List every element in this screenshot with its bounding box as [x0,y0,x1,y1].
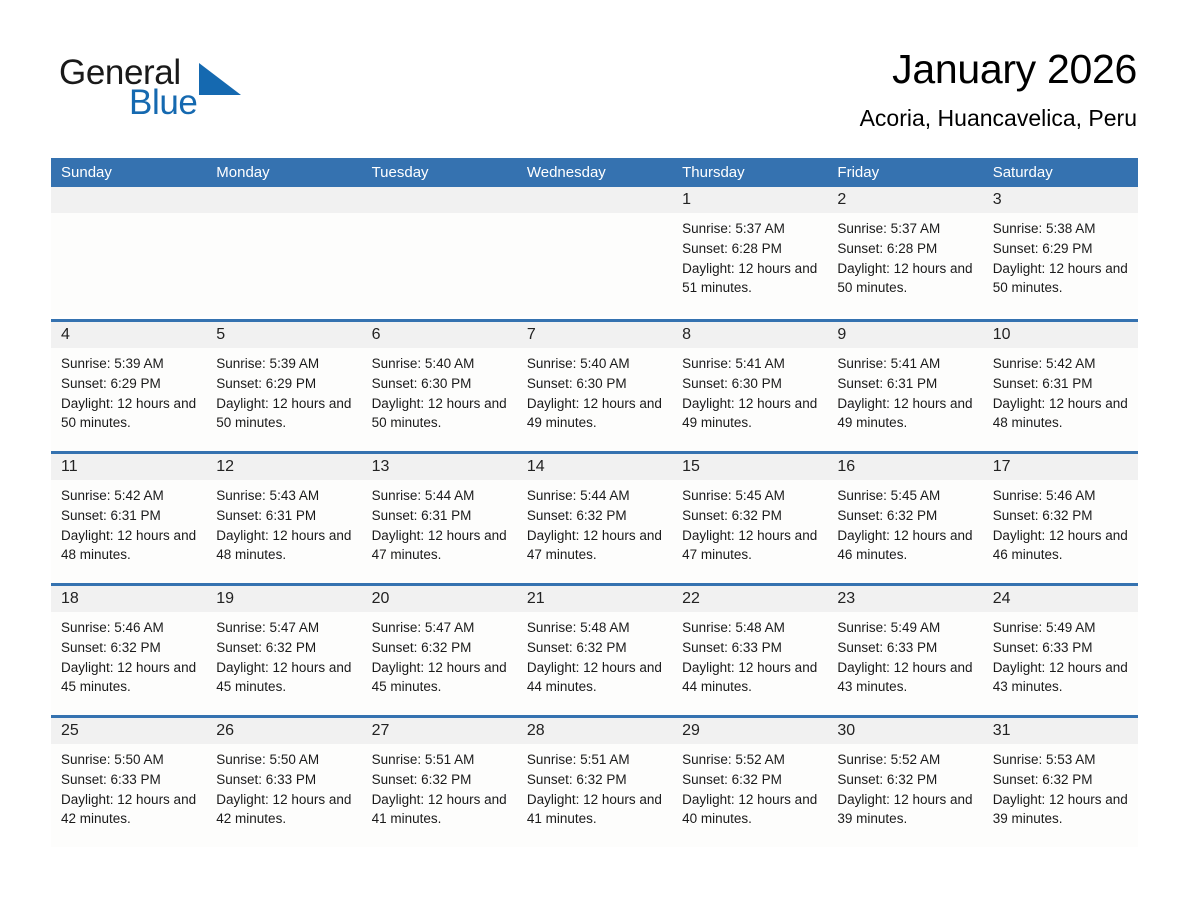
sunrise-text: Sunrise: 5:40 AM [372,354,511,374]
daylight-text: Daylight: 12 hours and 43 minutes. [993,658,1132,698]
week-daynumber-band: 1 2 3 [51,187,1138,213]
daylight-text: Daylight: 12 hours and 41 minutes. [527,790,666,830]
daylight-text: Daylight: 12 hours and 49 minutes. [837,394,976,434]
day-number[interactable] [51,187,206,213]
day-cell[interactable]: Sunrise: 5:47 AM Sunset: 6:32 PM Dayligh… [362,612,517,715]
day-cell[interactable]: Sunrise: 5:45 AM Sunset: 6:32 PM Dayligh… [672,480,827,583]
weekday-header-monday: Monday [206,158,361,187]
sunrise-text: Sunrise: 5:48 AM [527,618,666,638]
daylight-text: Daylight: 12 hours and 48 minutes. [61,526,200,566]
day-cell[interactable] [362,213,517,316]
day-number[interactable]: 25 [51,718,206,744]
page-title: January 2026 [860,44,1137,94]
day-cell[interactable]: Sunrise: 5:48 AM Sunset: 6:33 PM Dayligh… [672,612,827,715]
sunrise-text: Sunrise: 5:39 AM [61,354,200,374]
sunrise-text: Sunrise: 5:50 AM [216,750,355,770]
day-cell[interactable]: Sunrise: 5:53 AM Sunset: 6:32 PM Dayligh… [983,744,1138,847]
logo-text-blue: Blue [129,82,197,124]
day-cell[interactable]: Sunrise: 5:49 AM Sunset: 6:33 PM Dayligh… [983,612,1138,715]
sunset-text: Sunset: 6:28 PM [837,239,976,259]
sunset-text: Sunset: 6:31 PM [216,506,355,526]
day-cell[interactable]: Sunrise: 5:39 AM Sunset: 6:29 PM Dayligh… [51,348,206,451]
day-number[interactable]: 30 [827,718,982,744]
sunset-text: Sunset: 6:31 PM [993,374,1132,394]
sunset-text: Sunset: 6:33 PM [993,638,1132,658]
day-cell[interactable]: Sunrise: 5:44 AM Sunset: 6:32 PM Dayligh… [517,480,672,583]
sunset-text: Sunset: 6:32 PM [527,770,666,790]
daylight-text: Daylight: 12 hours and 45 minutes. [216,658,355,698]
location-subtitle: Acoria, Huancavelica, Peru [860,102,1137,134]
daylight-text: Daylight: 12 hours and 41 minutes. [372,790,511,830]
sunrise-text: Sunrise: 5:48 AM [682,618,821,638]
day-cell[interactable]: Sunrise: 5:42 AM Sunset: 6:31 PM Dayligh… [983,348,1138,451]
daylight-text: Daylight: 12 hours and 50 minutes. [372,394,511,434]
day-number[interactable]: 16 [827,454,982,480]
sunset-text: Sunset: 6:29 PM [61,374,200,394]
sunrise-text: Sunrise: 5:45 AM [682,486,821,506]
week-dayinfo-band: Sunrise: 5:42 AM Sunset: 6:31 PM Dayligh… [51,480,1138,583]
day-cell[interactable] [517,213,672,316]
sunrise-text: Sunrise: 5:38 AM [993,219,1132,239]
sunrise-text: Sunrise: 5:44 AM [527,486,666,506]
week-daynumber-band: 25 26 27 28 29 30 31 [51,718,1138,744]
day-cell[interactable]: Sunrise: 5:47 AM Sunset: 6:32 PM Dayligh… [206,612,361,715]
sunset-text: Sunset: 6:32 PM [216,638,355,658]
sunset-text: Sunset: 6:33 PM [682,638,821,658]
daylight-text: Daylight: 12 hours and 45 minutes. [61,658,200,698]
day-number[interactable]: 11 [51,454,206,480]
sunset-text: Sunset: 6:32 PM [527,638,666,658]
daylight-text: Daylight: 12 hours and 50 minutes. [993,259,1132,299]
week-row: 1 2 3 [51,187,1138,319]
weekday-header-friday: Friday [827,158,982,187]
sunset-text: Sunset: 6:33 PM [837,638,976,658]
sunrise-text: Sunrise: 5:40 AM [527,354,666,374]
day-number[interactable]: 9 [827,322,982,348]
sunrise-text: Sunrise: 5:41 AM [682,354,821,374]
sunrise-text: Sunrise: 5:37 AM [682,219,821,239]
sunset-text: Sunset: 6:32 PM [682,506,821,526]
day-cell[interactable]: Sunrise: 5:52 AM Sunset: 6:32 PM Dayligh… [827,744,982,847]
sunrise-text: Sunrise: 5:42 AM [61,486,200,506]
day-number[interactable] [517,187,672,213]
day-cell[interactable]: Sunrise: 5:46 AM Sunset: 6:32 PM Dayligh… [51,612,206,715]
day-number[interactable]: 28 [517,718,672,744]
day-number[interactable]: 17 [983,454,1138,480]
sunset-text: Sunset: 6:30 PM [527,374,666,394]
daylight-text: Daylight: 12 hours and 50 minutes. [216,394,355,434]
day-number[interactable]: 6 [362,322,517,348]
week-daynumber-band: 11 12 13 14 15 16 17 [51,454,1138,480]
week-row: 11 12 13 14 15 16 17 Sunrise: 5:42 AM Su… [51,451,1138,583]
week-dayinfo-band: Sunrise: 5:37 AM Sunset: 6:28 PM Dayligh… [51,213,1138,316]
week-daynumber-band: 18 19 20 21 22 23 24 [51,586,1138,612]
sunset-text: Sunset: 6:32 PM [372,638,511,658]
daylight-text: Daylight: 12 hours and 48 minutes. [216,526,355,566]
logo-triangle-icon [199,63,241,95]
day-number[interactable]: 23 [827,586,982,612]
day-cell[interactable]: Sunrise: 5:38 AM Sunset: 6:29 PM Dayligh… [983,213,1138,316]
daylight-text: Daylight: 12 hours and 42 minutes. [61,790,200,830]
sunset-text: Sunset: 6:30 PM [682,374,821,394]
daylight-text: Daylight: 12 hours and 50 minutes. [837,259,976,299]
sunrise-text: Sunrise: 5:37 AM [837,219,976,239]
day-number[interactable]: 21 [517,586,672,612]
sunset-text: Sunset: 6:32 PM [61,638,200,658]
day-number[interactable]: 13 [362,454,517,480]
daylight-text: Daylight: 12 hours and 49 minutes. [682,394,821,434]
sunset-text: Sunset: 6:32 PM [993,770,1132,790]
day-cell[interactable]: Sunrise: 5:45 AM Sunset: 6:32 PM Dayligh… [827,480,982,583]
sunrise-text: Sunrise: 5:39 AM [216,354,355,374]
sunset-text: Sunset: 6:31 PM [61,506,200,526]
sunset-text: Sunset: 6:29 PM [216,374,355,394]
day-cell[interactable]: Sunrise: 5:39 AM Sunset: 6:29 PM Dayligh… [206,348,361,451]
weekday-header-wednesday: Wednesday [517,158,672,187]
sunset-text: Sunset: 6:32 PM [837,506,976,526]
day-number[interactable] [206,187,361,213]
daylight-text: Daylight: 12 hours and 40 minutes. [682,790,821,830]
day-cell[interactable]: Sunrise: 5:40 AM Sunset: 6:30 PM Dayligh… [362,348,517,451]
sunrise-text: Sunrise: 5:49 AM [837,618,976,638]
sunset-text: Sunset: 6:29 PM [993,239,1132,259]
title-block: January 2026 Acoria, Huancavelica, Peru [860,44,1137,134]
day-cell[interactable]: Sunrise: 5:46 AM Sunset: 6:32 PM Dayligh… [983,480,1138,583]
week-dayinfo-band: Sunrise: 5:46 AM Sunset: 6:32 PM Dayligh… [51,612,1138,715]
sunset-text: Sunset: 6:28 PM [682,239,821,259]
weekday-header-thursday: Thursday [672,158,827,187]
sunrise-text: Sunrise: 5:45 AM [837,486,976,506]
day-number[interactable]: 27 [362,718,517,744]
day-cell[interactable]: Sunrise: 5:51 AM Sunset: 6:32 PM Dayligh… [517,744,672,847]
day-number[interactable]: 31 [983,718,1138,744]
week-dayinfo-band: Sunrise: 5:50 AM Sunset: 6:33 PM Dayligh… [51,744,1138,847]
daylight-text: Daylight: 12 hours and 50 minutes. [61,394,200,434]
weekday-header-tuesday: Tuesday [362,158,517,187]
sunrise-text: Sunrise: 5:52 AM [682,750,821,770]
daylight-text: Daylight: 12 hours and 46 minutes. [993,526,1132,566]
sunset-text: Sunset: 6:33 PM [61,770,200,790]
day-number[interactable]: 10 [983,322,1138,348]
day-number[interactable]: 8 [672,322,827,348]
day-number[interactable]: 29 [672,718,827,744]
sunrise-text: Sunrise: 5:47 AM [216,618,355,638]
sunset-text: Sunset: 6:32 PM [837,770,976,790]
day-cell[interactable]: Sunrise: 5:50 AM Sunset: 6:33 PM Dayligh… [51,744,206,847]
daylight-text: Daylight: 12 hours and 47 minutes. [372,526,511,566]
daylight-text: Daylight: 12 hours and 48 minutes. [993,394,1132,434]
sunrise-text: Sunrise: 5:43 AM [216,486,355,506]
daylight-text: Daylight: 12 hours and 49 minutes. [527,394,666,434]
week-row: 4 5 6 7 8 9 10 Sunrise: 5:39 AM Sunset: … [51,319,1138,451]
daylight-text: Daylight: 12 hours and 39 minutes. [837,790,976,830]
daylight-text: Daylight: 12 hours and 47 minutes. [682,526,821,566]
calendar-page: General Blue January 2026 Acoria, Huanca… [0,0,1188,918]
daylight-text: Daylight: 12 hours and 42 minutes. [216,790,355,830]
sunrise-text: Sunrise: 5:51 AM [527,750,666,770]
daylight-text: Daylight: 12 hours and 43 minutes. [837,658,976,698]
day-number[interactable]: 1 [672,187,827,213]
day-cell[interactable] [51,213,206,316]
day-cell[interactable]: Sunrise: 5:41 AM Sunset: 6:31 PM Dayligh… [827,348,982,451]
sunset-text: Sunset: 6:32 PM [682,770,821,790]
day-cell[interactable]: Sunrise: 5:44 AM Sunset: 6:31 PM Dayligh… [362,480,517,583]
day-cell[interactable]: Sunrise: 5:40 AM Sunset: 6:30 PM Dayligh… [517,348,672,451]
sunrise-text: Sunrise: 5:47 AM [372,618,511,638]
sunset-text: Sunset: 6:30 PM [372,374,511,394]
day-cell[interactable]: Sunrise: 5:42 AM Sunset: 6:31 PM Dayligh… [51,480,206,583]
day-number[interactable]: 15 [672,454,827,480]
day-number[interactable]: 20 [362,586,517,612]
sunrise-text: Sunrise: 5:52 AM [837,750,976,770]
page-header: General Blue January 2026 Acoria, Huanca… [51,44,1137,148]
day-number[interactable]: 14 [517,454,672,480]
daylight-text: Daylight: 12 hours and 51 minutes. [682,259,821,299]
daylight-text: Daylight: 12 hours and 45 minutes. [372,658,511,698]
day-cell[interactable]: Sunrise: 5:37 AM Sunset: 6:28 PM Dayligh… [672,213,827,316]
weekday-header-sunday: Sunday [51,158,206,187]
day-number[interactable]: 12 [206,454,361,480]
day-cell[interactable]: Sunrise: 5:37 AM Sunset: 6:28 PM Dayligh… [827,213,982,316]
day-number[interactable]: 22 [672,586,827,612]
day-cell[interactable]: Sunrise: 5:41 AM Sunset: 6:30 PM Dayligh… [672,348,827,451]
weekday-header-row: Sunday Monday Tuesday Wednesday Thursday… [51,158,1138,187]
day-number[interactable]: 26 [206,718,361,744]
week-row: 25 26 27 28 29 30 31 Sunrise: 5:50 AM Su… [51,715,1138,847]
day-cell[interactable]: Sunrise: 5:49 AM Sunset: 6:33 PM Dayligh… [827,612,982,715]
sunrise-text: Sunrise: 5:49 AM [993,618,1132,638]
day-number[interactable]: 5 [206,322,361,348]
day-number[interactable]: 18 [51,586,206,612]
weekday-header-saturday: Saturday [983,158,1138,187]
sunrise-text: Sunrise: 5:51 AM [372,750,511,770]
sunrise-text: Sunrise: 5:46 AM [993,486,1132,506]
day-number[interactable]: 7 [517,322,672,348]
sunset-text: Sunset: 6:33 PM [216,770,355,790]
sunset-text: Sunset: 6:31 PM [837,374,976,394]
day-number[interactable]: 19 [206,586,361,612]
week-daynumber-band: 4 5 6 7 8 9 10 [51,322,1138,348]
sunset-text: Sunset: 6:32 PM [527,506,666,526]
week-dayinfo-band: Sunrise: 5:39 AM Sunset: 6:29 PM Dayligh… [51,348,1138,451]
day-cell[interactable]: Sunrise: 5:51 AM Sunset: 6:32 PM Dayligh… [362,744,517,847]
daylight-text: Daylight: 12 hours and 46 minutes. [837,526,976,566]
day-number[interactable]: 24 [983,586,1138,612]
day-number[interactable] [362,187,517,213]
day-number[interactable]: 3 [983,187,1138,213]
daylight-text: Daylight: 12 hours and 39 minutes. [993,790,1132,830]
week-row: 18 19 20 21 22 23 24 Sunrise: 5:46 AM Su… [51,583,1138,715]
day-cell[interactable]: Sunrise: 5:50 AM Sunset: 6:33 PM Dayligh… [206,744,361,847]
general-blue-logo[interactable]: General Blue [51,52,341,132]
sunrise-text: Sunrise: 5:50 AM [61,750,200,770]
sunset-text: Sunset: 6:32 PM [372,770,511,790]
day-cell[interactable]: Sunrise: 5:48 AM Sunset: 6:32 PM Dayligh… [517,612,672,715]
daylight-text: Daylight: 12 hours and 44 minutes. [527,658,666,698]
daylight-text: Daylight: 12 hours and 44 minutes. [682,658,821,698]
sunrise-text: Sunrise: 5:41 AM [837,354,976,374]
sunrise-text: Sunrise: 5:46 AM [61,618,200,638]
sunset-text: Sunset: 6:31 PM [372,506,511,526]
day-number[interactable]: 2 [827,187,982,213]
day-cell[interactable]: Sunrise: 5:43 AM Sunset: 6:31 PM Dayligh… [206,480,361,583]
day-number[interactable]: 4 [51,322,206,348]
day-cell[interactable] [206,213,361,316]
sunrise-text: Sunrise: 5:53 AM [993,750,1132,770]
sunrise-text: Sunrise: 5:44 AM [372,486,511,506]
daylight-text: Daylight: 12 hours and 47 minutes. [527,526,666,566]
day-cell[interactable]: Sunrise: 5:52 AM Sunset: 6:32 PM Dayligh… [672,744,827,847]
calendar-grid: Sunday Monday Tuesday Wednesday Thursday… [51,158,1138,847]
sunset-text: Sunset: 6:32 PM [993,506,1132,526]
sunrise-text: Sunrise: 5:42 AM [993,354,1132,374]
